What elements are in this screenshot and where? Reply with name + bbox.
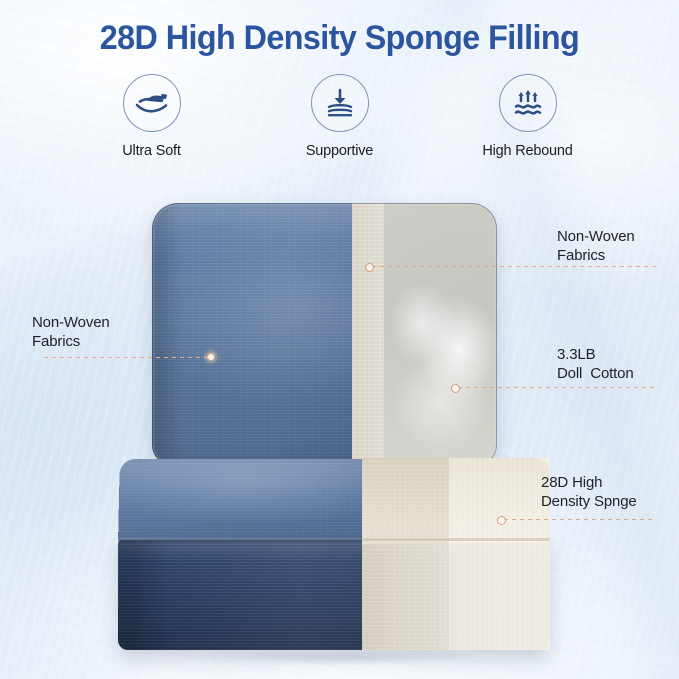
annotation-line-2: Doll Cotton <box>557 364 634 383</box>
annotation-right-non-woven: Non-Woven Fabrics <box>557 227 635 265</box>
annotation-line-2: Fabrics <box>557 246 635 265</box>
annotation-left-non-woven: Non-Woven Fabrics <box>32 313 110 351</box>
seat-cushion <box>118 458 550 658</box>
product-infographic: 28D High Density Sponge Filling Ultra So… <box>0 0 679 679</box>
annotation-marker-left-non-woven <box>208 354 214 360</box>
annotation-marker-high-density-sponge <box>497 516 506 525</box>
annotation-doll-cotton: 3.3LB Doll Cotton <box>557 345 634 383</box>
annotation-marker-doll-cotton <box>451 384 460 393</box>
annotation-line-1: Non-Woven <box>557 227 635 246</box>
seat-cushion-cutaway <box>362 458 550 650</box>
annotation-leader-line-high-density-sponge <box>504 519 656 520</box>
annotation-leader-line-left-non-woven <box>44 357 212 358</box>
annotation-line-1: Non-Woven <box>32 313 110 332</box>
annotation-line-2: Density Spnge <box>541 492 637 511</box>
annotation-leader-line-doll-cotton <box>458 387 656 388</box>
annotation-high-density-sponge: 28D High Density Spnge <box>541 473 637 511</box>
back-cushion-piping <box>152 203 497 465</box>
seat-cutaway-texture <box>362 458 550 650</box>
annotation-line-1: 3.3LB <box>557 345 634 364</box>
annotation-line-1: 28D High <box>541 473 637 492</box>
annotation-marker-right-non-woven <box>365 263 374 272</box>
annotation-leader-line-right-non-woven <box>372 266 656 267</box>
back-cushion <box>152 203 497 465</box>
annotation-line-2: Fabrics <box>32 332 110 351</box>
